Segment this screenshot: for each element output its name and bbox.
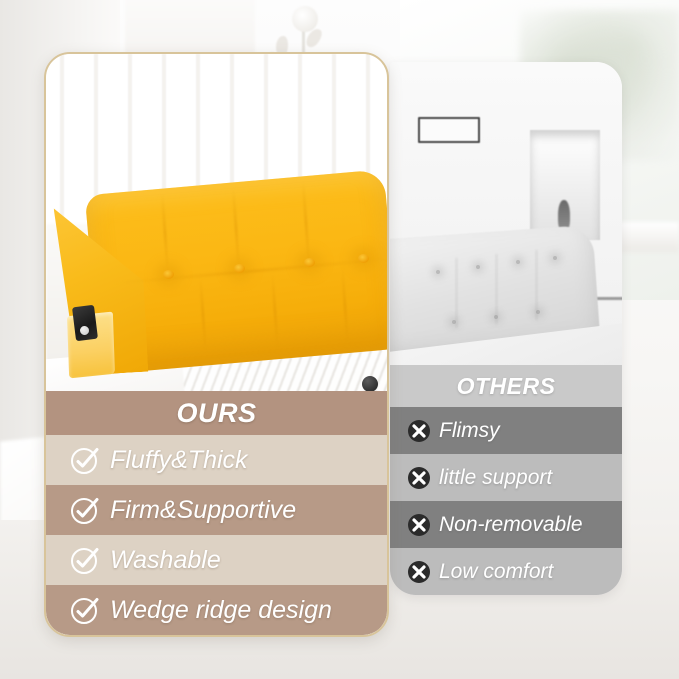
- check-circle-icon: [70, 545, 100, 575]
- others-header-label: OTHERS: [457, 373, 556, 400]
- ours-comparison-table: OURS Fluffy&Thick Firm: [46, 391, 387, 635]
- ours-row-label: Wedge ridge design: [110, 596, 332, 625]
- others-comparison-table: OTHERS Flimsy little s: [390, 365, 622, 595]
- others-row-label: Low comfort: [439, 560, 553, 584]
- others-photo-picture-frame: [418, 117, 480, 143]
- others-pillow-tuft: [553, 256, 557, 260]
- ours-row-label: Washable: [110, 546, 221, 575]
- ours-table-row: Fluffy&Thick: [46, 435, 387, 485]
- others-table-row: Low comfort: [390, 548, 622, 595]
- comparison-infographic: OTHERS Flimsy little s: [0, 0, 679, 679]
- x-circle-icon: [407, 560, 431, 584]
- others-table-header: OTHERS: [390, 365, 622, 407]
- x-circle-icon: [407, 466, 431, 490]
- ours-table-row: Washable: [46, 535, 387, 585]
- ours-table-header: OURS: [46, 391, 387, 435]
- others-product-card: OTHERS Flimsy little s: [390, 62, 622, 595]
- others-table-row: Non-removable: [390, 501, 622, 548]
- pillow-tuft-button: [234, 264, 245, 273]
- pillow-tuft-button: [358, 254, 369, 263]
- phone-in-pocket: [72, 305, 98, 341]
- others-table-row: Flimsy: [390, 407, 622, 454]
- others-pillow-tuft: [516, 260, 520, 264]
- others-pillow-seam: [536, 250, 537, 320]
- others-pillow-tuft: [476, 265, 480, 269]
- check-circle-icon: [70, 495, 100, 525]
- pillow-tuft-button: [163, 270, 174, 279]
- others-table-row: little support: [390, 454, 622, 501]
- ours-header-label: OURS: [176, 398, 256, 429]
- x-circle-icon: [407, 513, 431, 537]
- ours-table-row: Firm&Supportive: [46, 485, 387, 535]
- others-row-label: Non-removable: [439, 513, 583, 537]
- pillow-tuft-button: [304, 258, 315, 267]
- others-pillow-seam: [496, 254, 497, 324]
- background-flower: [292, 6, 318, 32]
- ours-row-label: Fluffy&Thick: [110, 446, 248, 475]
- others-pillow-seam: [456, 258, 457, 328]
- others-pillow-tuft: [436, 270, 440, 274]
- ours-table-row: Wedge ridge design: [46, 585, 387, 635]
- ours-wedge-pillow: [52, 174, 387, 374]
- check-circle-icon: [70, 445, 100, 475]
- others-row-label: little support: [439, 466, 552, 490]
- ours-photo-bed-knob: [362, 376, 378, 392]
- check-circle-icon: [70, 595, 100, 625]
- ours-product-card: OURS Fluffy&Thick Firm: [44, 52, 389, 637]
- others-row-label: Flimsy: [439, 419, 500, 443]
- ours-row-label: Firm&Supportive: [110, 496, 296, 525]
- x-circle-icon: [407, 419, 431, 443]
